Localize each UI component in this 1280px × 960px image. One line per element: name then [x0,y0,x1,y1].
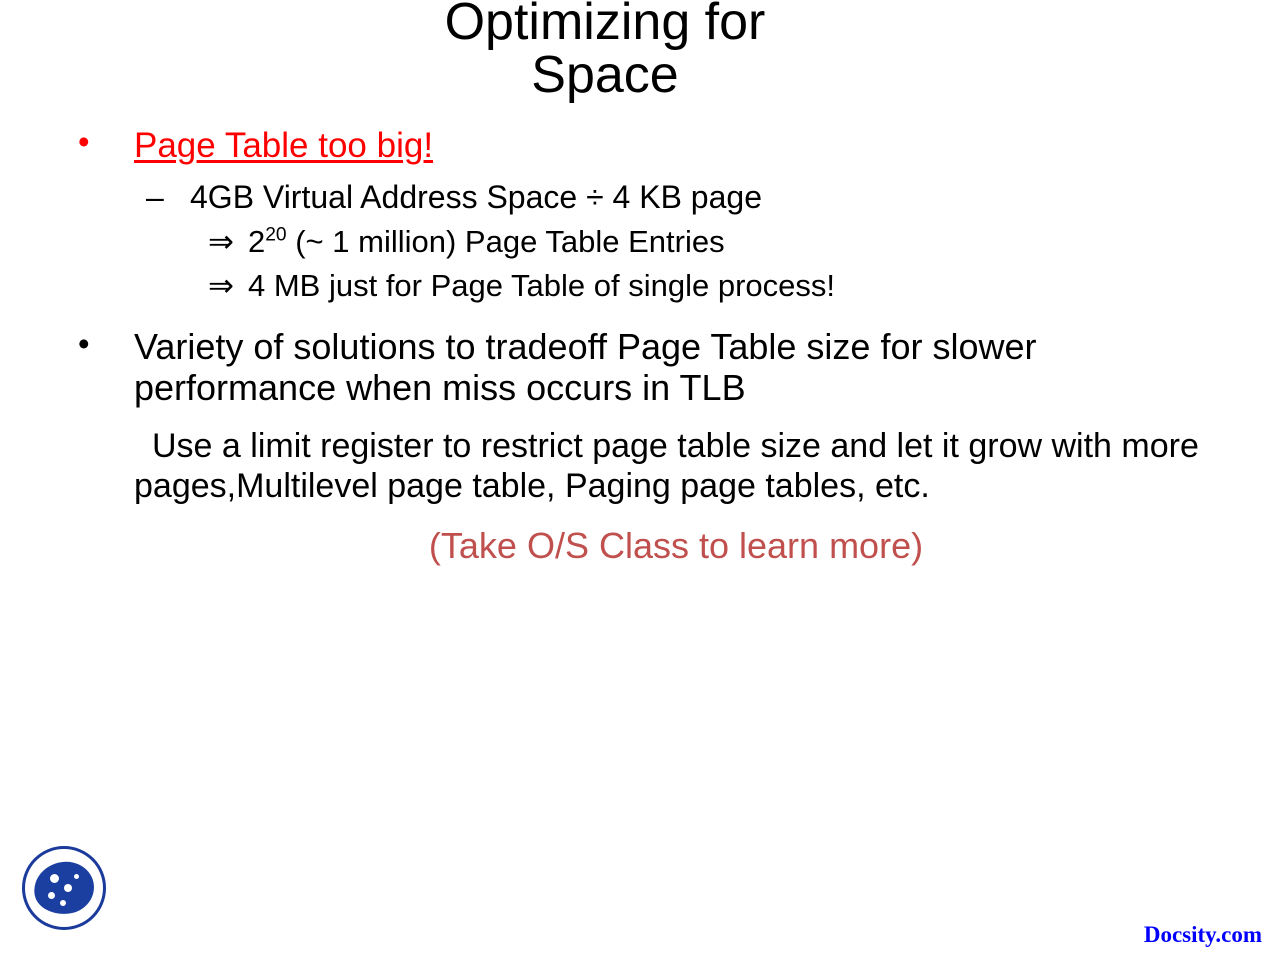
bullet-variety-of-solutions: • Variety of solutions to tradeoff Page … [78,326,1218,410]
paragraph-limit-register-label: Use a limit register to restrict page ta… [134,427,1199,504]
implication-line-size-label: 4 MB just for Page Table of single proce… [248,268,835,304]
docsity-logo-icon [22,846,110,934]
bullet-page-table-too-big: • Page Table too big! [78,126,1218,165]
dash-marker-icon: – [146,179,164,215]
sub-bullet-address-space: – 4GB Virtual Address Space ÷ 4 KB page [78,179,1218,215]
pte-exponent: 20 [265,224,286,245]
bullet-marker-icon: • [78,125,90,158]
logo-dot [60,900,66,906]
pte-rest: (~ 1 million) Page Table Entries [287,224,725,259]
bullet-variety-of-solutions-label: Variety of solutions to tradeoff Page Ta… [134,326,1037,409]
bullet-marker-icon: • [78,327,90,360]
implies-arrow-icon: ⇒ [208,268,234,304]
docsity-watermark: Docsity.com [1144,922,1262,948]
implication-line-entries: ⇒ 220 (~ 1 million) Page Table Entries [78,224,1218,260]
implication-line-entries-text: 220 (~ 1 million) Page Table Entries [248,224,725,260]
pte-base: 2 [248,224,265,259]
slide-title: Optimizing for Space [190,0,1020,102]
closing-note: (Take O/S Class to learn more) [78,526,1218,566]
sub-bullet-address-space-label: 4GB Virtual Address Space ÷ 4 KB page [190,179,762,215]
implies-arrow-icon: ⇒ [208,224,234,260]
paragraph-limit-register: Use a limit register to restrict page ta… [78,427,1218,506]
logo-dot [64,884,72,892]
bullet-page-table-too-big-label: Page Table too big! [134,126,433,165]
logo-dot [50,874,59,883]
slide-canvas: Optimizing for Space • Page Table too bi… [0,0,1280,960]
implication-line-size: ⇒ 4 MB just for Page Table of single pro… [78,268,1218,304]
slide-body: • Page Table too big! – 4GB Virtual Addr… [78,126,1218,566]
logo-dot [48,892,55,899]
logo-dot [74,874,79,879]
